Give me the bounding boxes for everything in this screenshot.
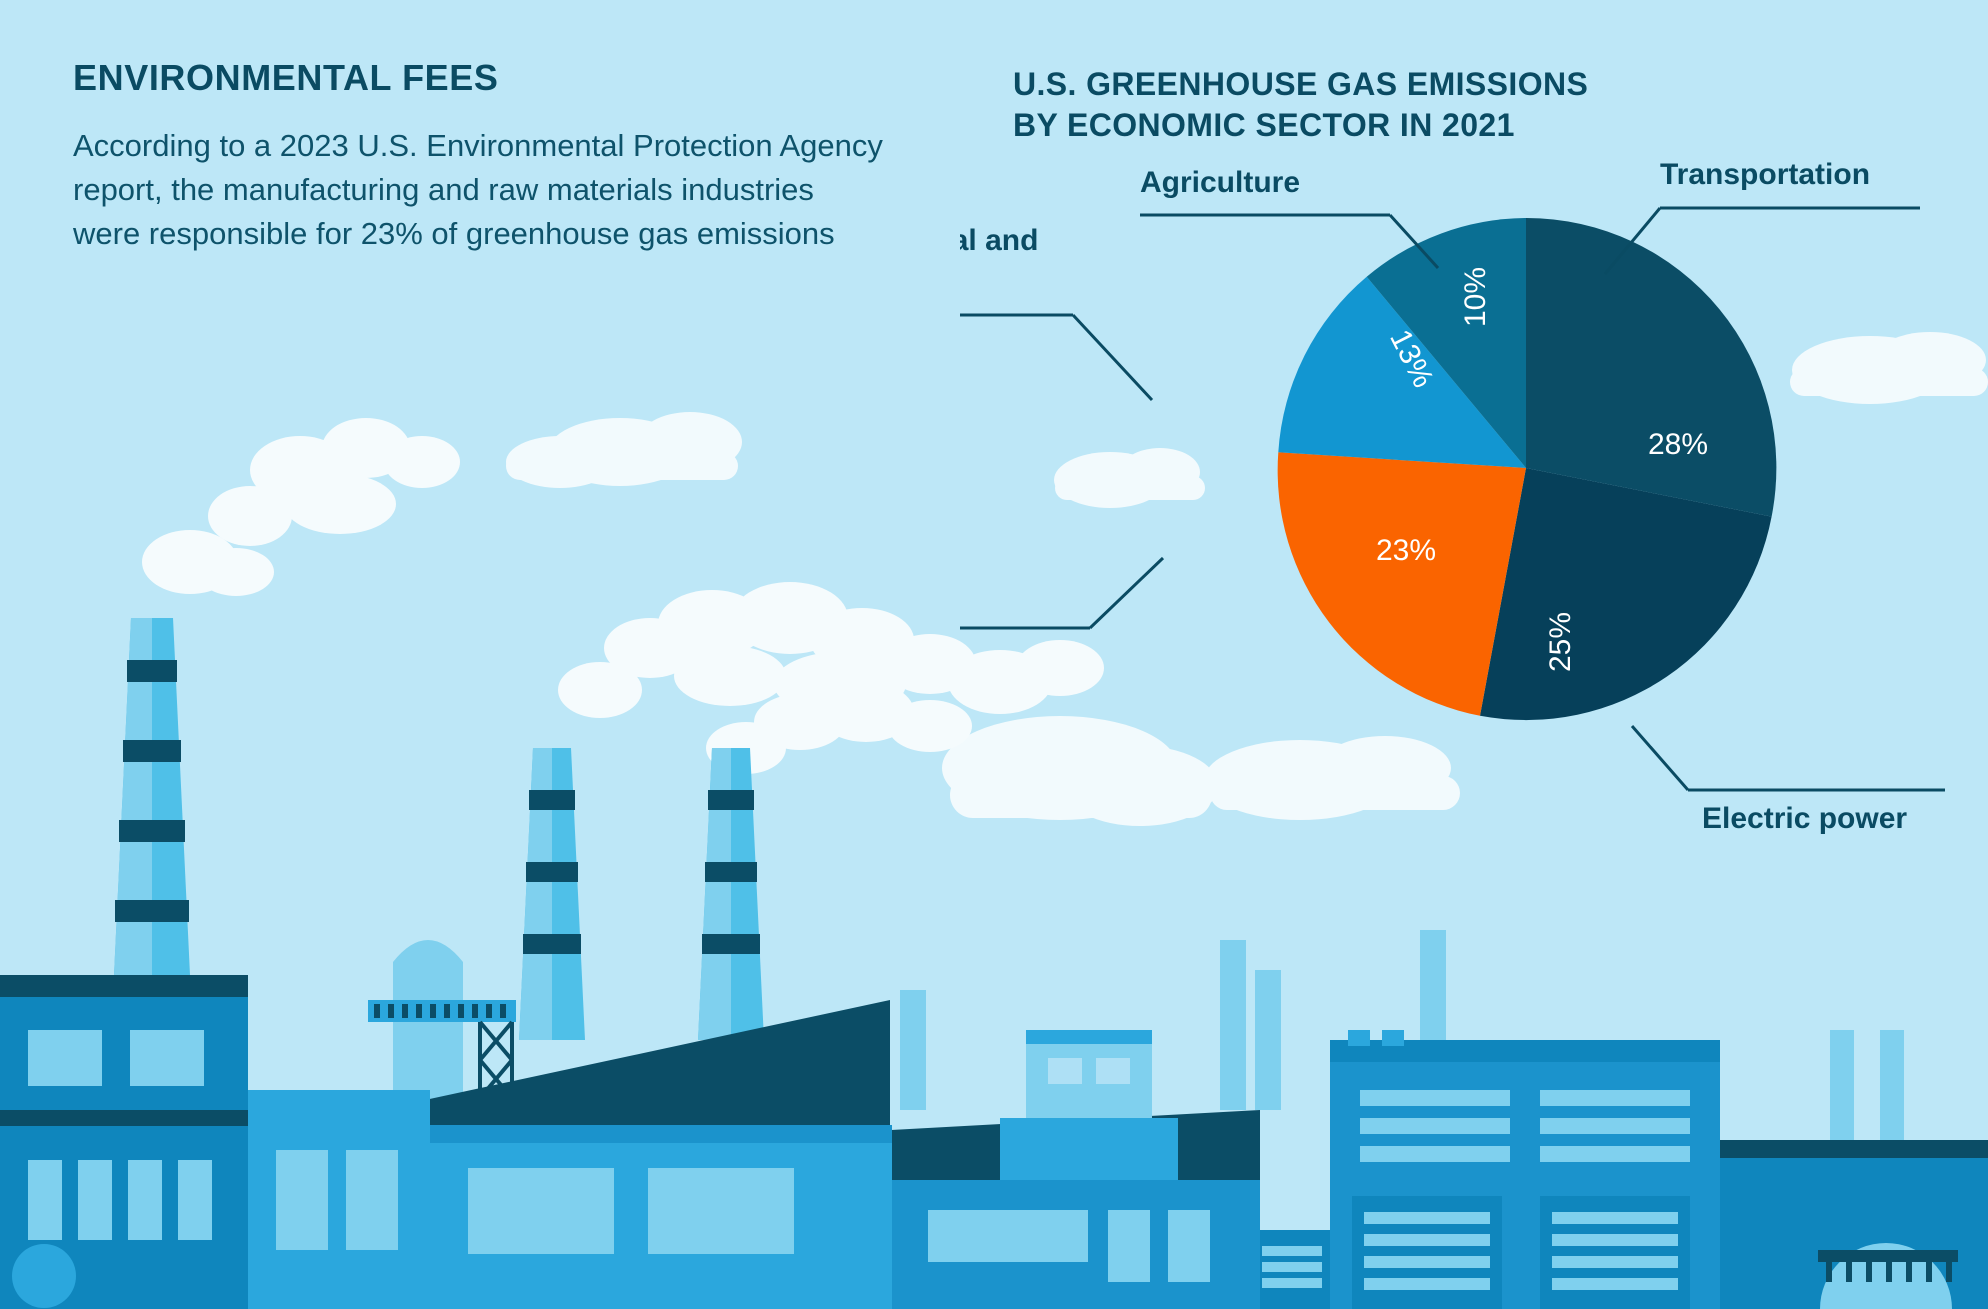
pie-value-transportation: 28% [1648,428,1708,461]
chimney-b [1220,940,1246,1110]
callout-label-electric-power: Electric power [1702,802,1907,835]
callout-label-transportation: Transportation [1660,158,1870,191]
chimney-f [1880,1030,1904,1140]
tank-left [12,1244,76,1308]
chimney-c [1255,970,1281,1110]
leader-line-commercial-elbow [1073,315,1152,400]
foreground-strip [1260,1230,1330,1309]
callout-label-agriculture: Agriculture [1140,166,1300,199]
emissions-pie-chart: 28% 25% 23% 13% 10% Agriculture Commerci… [960,150,1988,870]
pie-value-electric-power: 25% [1544,612,1577,672]
leader-line-industry-elbow [1090,558,1163,628]
chart-title-line-2: BY ECONOMIC SECTOR IN 2021 [1013,105,1913,146]
building-right-tall [1330,1040,1720,1309]
pie-value-agriculture: 10% [1459,267,1492,327]
environmental-fees-panel: ENVIRONMENTAL FEES According to a 2023 U… [73,58,903,256]
chimney-a [900,990,926,1110]
infographic-canvas: ENVIRONMENTAL FEES According to a 2023 U… [0,0,1988,1309]
leader-line-electric-power-elbow [1632,726,1688,790]
pie-value-industry: 23% [1376,534,1436,567]
page-title: ENVIRONMENTAL FEES [73,58,903,98]
building-left-block [0,975,248,1309]
chart-title-block: U.S. GREENHOUSE GAS EMISSIONS BY ECONOMI… [1013,64,1913,146]
pie-chart-svg: 28% 25% 23% 13% 10% Agriculture Commerci… [960,150,1988,870]
environmental-fees-paragraph: According to a 2023 U.S. Environmental P… [73,124,883,256]
pie-slice-transportation[interactable] [1526,218,1776,517]
chart-title-line-1: U.S. GREENHOUSE GAS EMISSIONS [1013,64,1913,105]
callout-label-commercial-line1: Commercial and [960,224,1038,257]
chimney-e [1830,1030,1854,1140]
building-far-right [1720,1140,1988,1309]
